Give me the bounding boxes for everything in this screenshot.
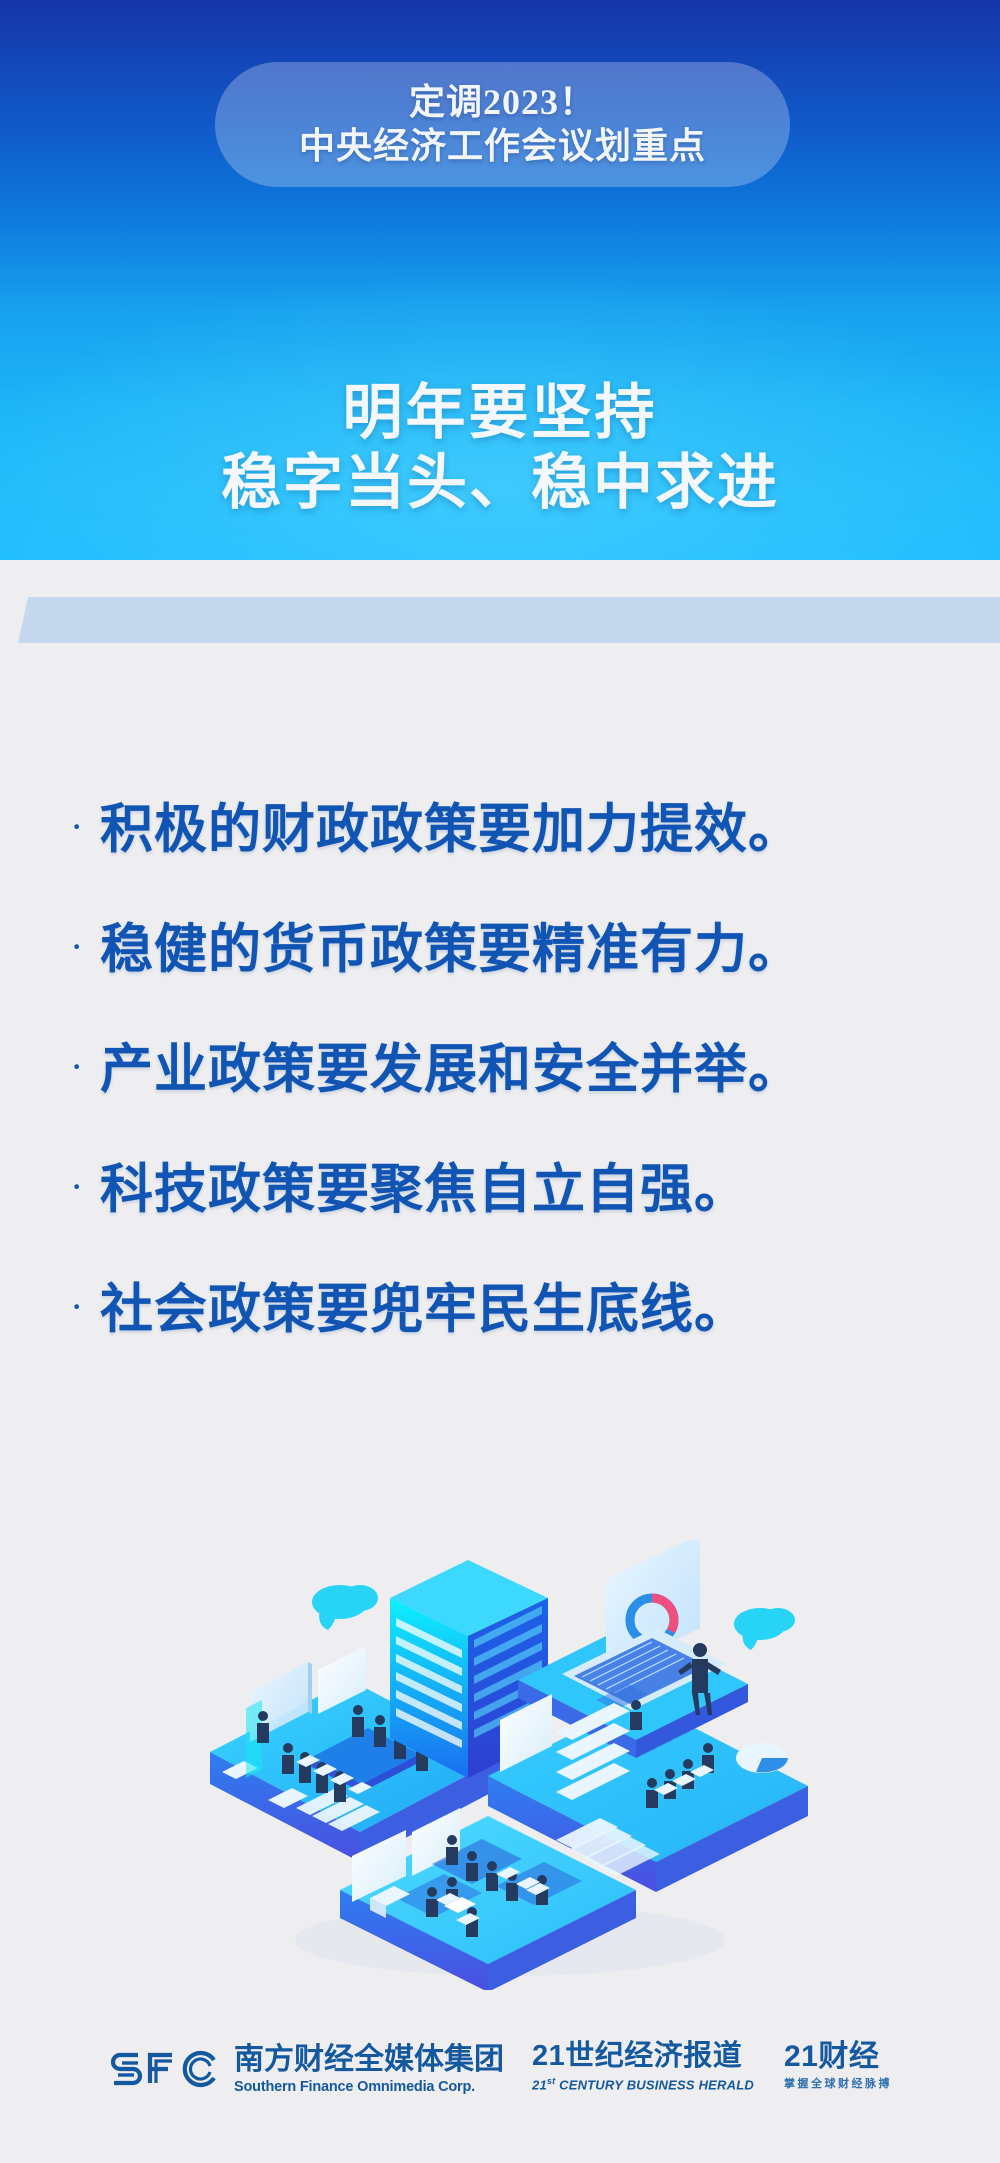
herald-name-en: 21st CENTURY BUSINESS HERALD (532, 2077, 754, 2091)
list-item-label: 积极的财政政策要加力提效。 (100, 801, 802, 859)
cj21-name-cn: 21财经 (784, 2042, 892, 2072)
bullet-dot-icon: · (70, 927, 100, 967)
cj21-tagline: 掌握全球财经脉搏 (784, 2079, 892, 2090)
sfc-logo: 南方财经全媒体集团 Southern Finance Omnimedia Cor… (108, 2042, 504, 2098)
sfc-name-cn: 南方财经全媒体集团 (234, 2045, 504, 2075)
cj21-logo: 21财经 掌握全球财经脉搏 (784, 2042, 892, 2090)
decorative-ribbon (18, 597, 1000, 643)
policy-bullet-list: · 积极的财政政策要加力提效。 · 稳健的货币政策要精准有力。 · 产业政策要发… (0, 770, 1000, 1370)
list-item-label: 产业政策要发展和安全并举。 (100, 1041, 802, 1099)
page-title: 明年要坚持 稳字当头、稳中求进 (0, 378, 1000, 518)
isometric-city-office-illustration (200, 1540, 820, 1990)
cloud-left (312, 1585, 378, 1630)
list-item: · 社会政策要兜牢民生底线。 (0, 1250, 1000, 1370)
bullet-dot-icon: · (70, 1167, 100, 1207)
sfc-name-en: Southern Finance Omnimedia Corp. (234, 2080, 504, 2095)
list-item-label: 科技政策要聚焦自立自强。 (100, 1161, 748, 1219)
herald-name-cn: 21世纪经济报道 (532, 2042, 754, 2071)
sfc-monogram-icon (108, 2042, 226, 2098)
bullet-dot-icon: · (70, 1047, 100, 1087)
list-item-label: 社会政策要兜牢民生底线。 (100, 1281, 748, 1339)
list-item: · 科技政策要聚焦自立自强。 (0, 1130, 1000, 1250)
cloud-right (734, 1608, 795, 1650)
footer-logos: 南方财经全媒体集团 Southern Finance Omnimedia Cor… (0, 2042, 1000, 2098)
poster-root: 定调2023！ 中央经济工作会议划重点 明年要坚持 稳字当头、稳中求进 · 积极… (0, 0, 1000, 2163)
list-item: · 积极的财政政策要加力提效。 (0, 770, 1000, 890)
kicker-line-1: 定调2023！ (409, 81, 596, 125)
list-item-label: 稳健的货币政策要精准有力。 (100, 921, 802, 979)
kicker-line-2: 中央经济工作会议划重点 (299, 125, 706, 169)
kicker-pill: 定调2023！ 中央经济工作会议划重点 (215, 62, 790, 187)
bullet-dot-icon: · (70, 807, 100, 847)
herald-logo: 21世纪经济报道 21st CENTURY BUSINESS HERALD (532, 2042, 754, 2091)
herald-en-prefix: 21 (532, 2077, 547, 2092)
list-item: · 稳健的货币政策要精准有力。 (0, 890, 1000, 1010)
herald-en-rest: CENTURY BUSINESS HERALD (555, 2077, 754, 2092)
list-item: · 产业政策要发展和安全并举。 (0, 1010, 1000, 1130)
headline-line-1: 明年要坚持 (0, 378, 1000, 448)
bullet-dot-icon: · (70, 1287, 100, 1327)
headline-line-2: 稳字当头、稳中求进 (0, 448, 1000, 518)
